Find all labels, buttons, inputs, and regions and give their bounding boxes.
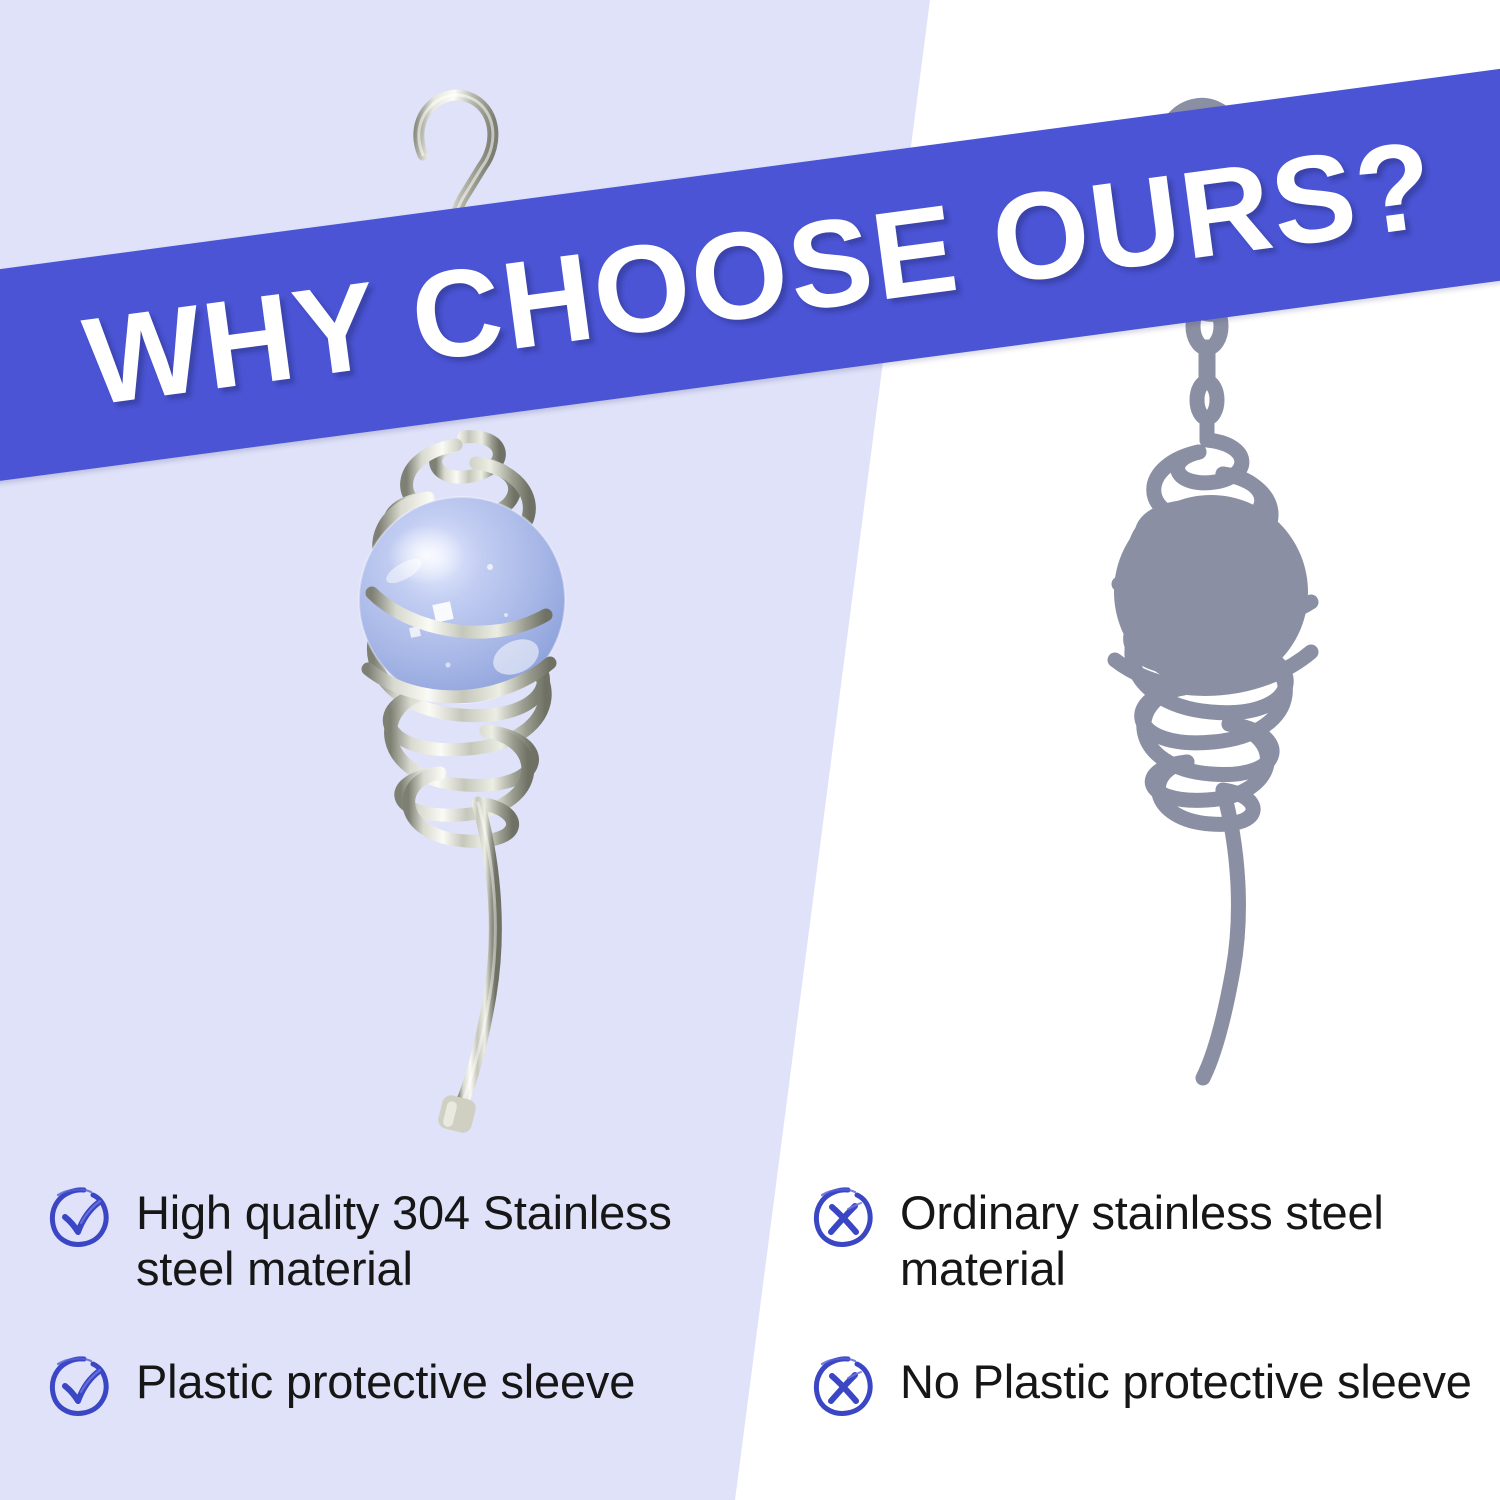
tail-rod-icon (1203, 790, 1238, 1078)
swivel-icon (1193, 304, 1221, 440)
infographic-canvas: WHY CHOOSE OURS? High quality 304 Stainl… (0, 0, 1500, 1500)
protective-sleeve-icon (436, 1093, 477, 1134)
list-item-label: Plastic protective sleeve (136, 1354, 635, 1410)
tail-rod-icon (458, 803, 495, 1113)
x-circle-icon (812, 1356, 874, 1418)
list-item-label: Ordinary stainless steel material (900, 1185, 1472, 1298)
ball-icon (1114, 495, 1308, 689)
list-item: Plastic protective sleeve (48, 1354, 788, 1418)
cons-list: Ordinary stainless steel material No Pla… (812, 1185, 1472, 1418)
pros-list: High quality 304 Stainless steel materia… (48, 1185, 788, 1418)
list-item: High quality 304 Stainless steel materia… (48, 1185, 788, 1298)
check-circle-icon (48, 1356, 110, 1418)
list-item-label: High quality 304 Stainless steel materia… (136, 1185, 776, 1298)
list-item: No Plastic protective sleeve (812, 1354, 1472, 1418)
list-item: Ordinary stainless steel material (812, 1185, 1472, 1298)
list-item-label: No Plastic protective sleeve (900, 1354, 1472, 1410)
check-circle-icon (48, 1187, 110, 1249)
x-circle-icon (812, 1187, 874, 1249)
